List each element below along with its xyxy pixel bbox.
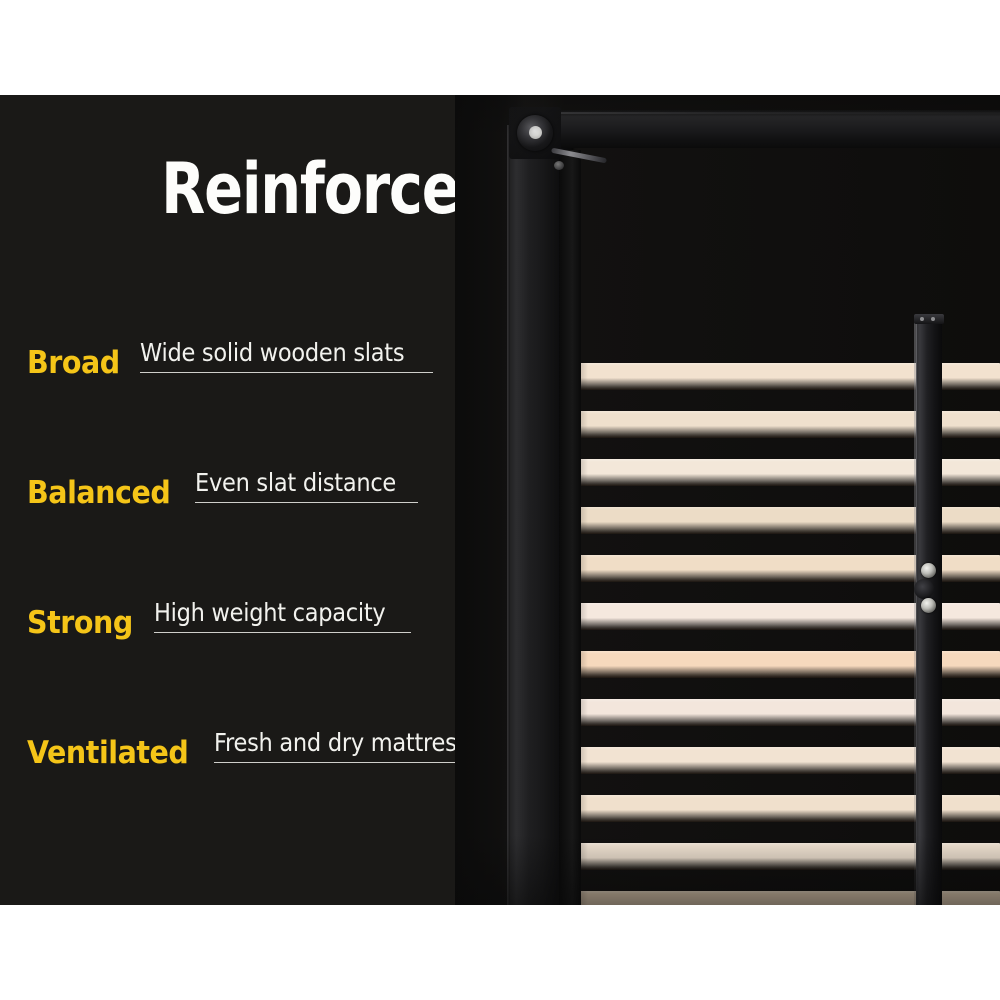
feature-key-broad: Broad: [27, 340, 120, 379]
center-rail-knob-icon: [914, 579, 934, 599]
left-rail-inner-channel: [559, 150, 581, 905]
corner-pin-knob-icon: [554, 161, 564, 170]
product-feature-image: Reinforced thick slats Broad Wide solid …: [0, 0, 1000, 1000]
feature-desc-underline-strong: High weight capacity: [154, 600, 411, 633]
feature-desc-balanced: Even slat distance: [195, 470, 396, 495]
product-photo: [455, 95, 1000, 905]
corner-bolt-head-icon: [529, 126, 542, 139]
feature-desc-strong: High weight capacity: [154, 600, 385, 625]
center-rail-highlight: [914, 320, 917, 905]
feature-desc-underline-balanced: Even slat distance: [195, 470, 418, 503]
center-rail-cap-dot-right: [931, 317, 935, 321]
center-rail-cap-dot-left: [920, 317, 924, 321]
feature-key-balanced: Balanced: [27, 470, 170, 509]
center-rail-screw-icon-1: [921, 563, 936, 578]
feature-desc-broad: Wide solid wooden slats: [140, 340, 404, 365]
feature-desc-underline-broad: Wide solid wooden slats: [140, 340, 434, 373]
feature-key-strong: Strong: [27, 600, 133, 639]
top-rail-highlight: [525, 112, 1000, 114]
center-rail-cap: [914, 314, 944, 324]
bed-frame-top-rail: [525, 110, 1000, 148]
feature-key-ventilated: Ventilated: [27, 730, 188, 769]
center-rail-screw-icon-2: [921, 598, 936, 613]
